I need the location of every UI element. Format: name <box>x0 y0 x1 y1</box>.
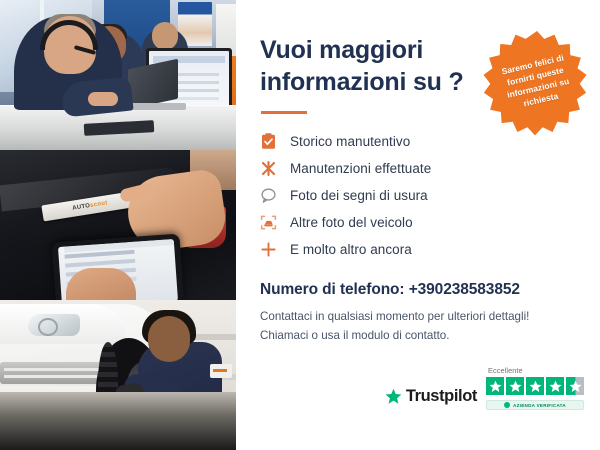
list-item: Altre foto del veicolo <box>260 209 574 236</box>
wrench-cross-icon <box>260 160 277 177</box>
badge-content: Saremo felici di fornirti queste informa… <box>471 17 600 149</box>
headset-icon <box>471 37 496 58</box>
laptop-base-shape <box>126 103 186 110</box>
verified-label: AZIENDA VERIFICATA <box>513 403 566 408</box>
speech-bubble-icon <box>260 187 277 204</box>
list-item-label: Manutenzioni effettuate <box>290 161 431 176</box>
trustpilot-rating: Eccellente <box>486 366 584 410</box>
garage-floor-shape <box>0 392 236 450</box>
background-worker-head-shape <box>152 22 178 50</box>
content-panel: Vuoi maggiori informazioni su ? Saremo f… <box>236 0 600 450</box>
phone-number[interactable]: Numero di telefono: +390238583852 <box>260 281 574 299</box>
strip-brand-accent: scout <box>90 200 108 209</box>
list-item-label: Storico manutentivo <box>290 134 410 149</box>
plus-icon <box>260 241 277 258</box>
title-divider <box>261 111 307 114</box>
uniform-logo-shape <box>210 364 232 378</box>
laptop-shape <box>126 66 186 110</box>
clipboard-check-icon <box>260 133 277 150</box>
list-item-label: Foto dei segni di usura <box>290 188 428 203</box>
contact-note-line-2: Chiamaci o usa il modulo di contatto. <box>260 329 449 342</box>
list-item-label: E molto altro ancora <box>290 242 412 257</box>
star-box-half <box>566 377 584 395</box>
mechanic-head-shape <box>148 316 190 362</box>
holding-hand-shape <box>66 268 136 300</box>
star-box <box>486 377 504 395</box>
list-item-label: Altre foto del veicolo <box>290 215 413 230</box>
star-rating <box>486 377 584 395</box>
star-box <box>506 377 524 395</box>
star-box <box>546 377 564 395</box>
agent-hand-shape <box>88 92 118 106</box>
scan-car-icon <box>260 214 277 231</box>
verified-check-icon <box>504 402 510 408</box>
contact-note-line-1: Contattaci in qualsiasi momento per ulte… <box>260 310 529 323</box>
photo-column: AUTOscout <box>0 0 236 450</box>
mechanic-wheel-photo <box>0 300 236 450</box>
star-box <box>526 377 544 395</box>
page-title: Vuoi maggiori informazioni su ? <box>260 34 475 98</box>
list-item: E molto altro ancora <box>260 236 574 263</box>
badge-text: Saremo felici di fornirti queste informa… <box>490 50 585 116</box>
rating-label: Eccellente <box>488 366 523 375</box>
headlight-shape <box>28 314 80 336</box>
contact-note: Contattaci in qualsiasi momento per ulte… <box>260 308 574 346</box>
trustpilot-logo: Trustpilot <box>385 387 477 410</box>
trustpilot-star-icon <box>385 388 402 405</box>
call-center-agents-photo <box>0 0 236 150</box>
list-item: Manutenzioni effettuate <box>260 155 574 182</box>
advertisement-banner: AUTOscout <box>0 0 600 450</box>
paint-thickness-check-photo: AUTOscout <box>0 150 236 300</box>
list-item: Foto dei segni di usura <box>260 182 574 209</box>
trustpilot-widget[interactable]: Trustpilot Eccellente <box>385 366 584 410</box>
laptop-lid-shape <box>128 59 178 110</box>
verified-company-badge: AZIENDA VERIFICATA <box>486 400 584 410</box>
feature-list: Storico manutentivo Manutenzioni effettu… <box>260 128 574 263</box>
callout-badge: Saremo felici di fornirti queste informa… <box>482 28 592 138</box>
trustpilot-wordmark: Trustpilot <box>406 387 477 406</box>
